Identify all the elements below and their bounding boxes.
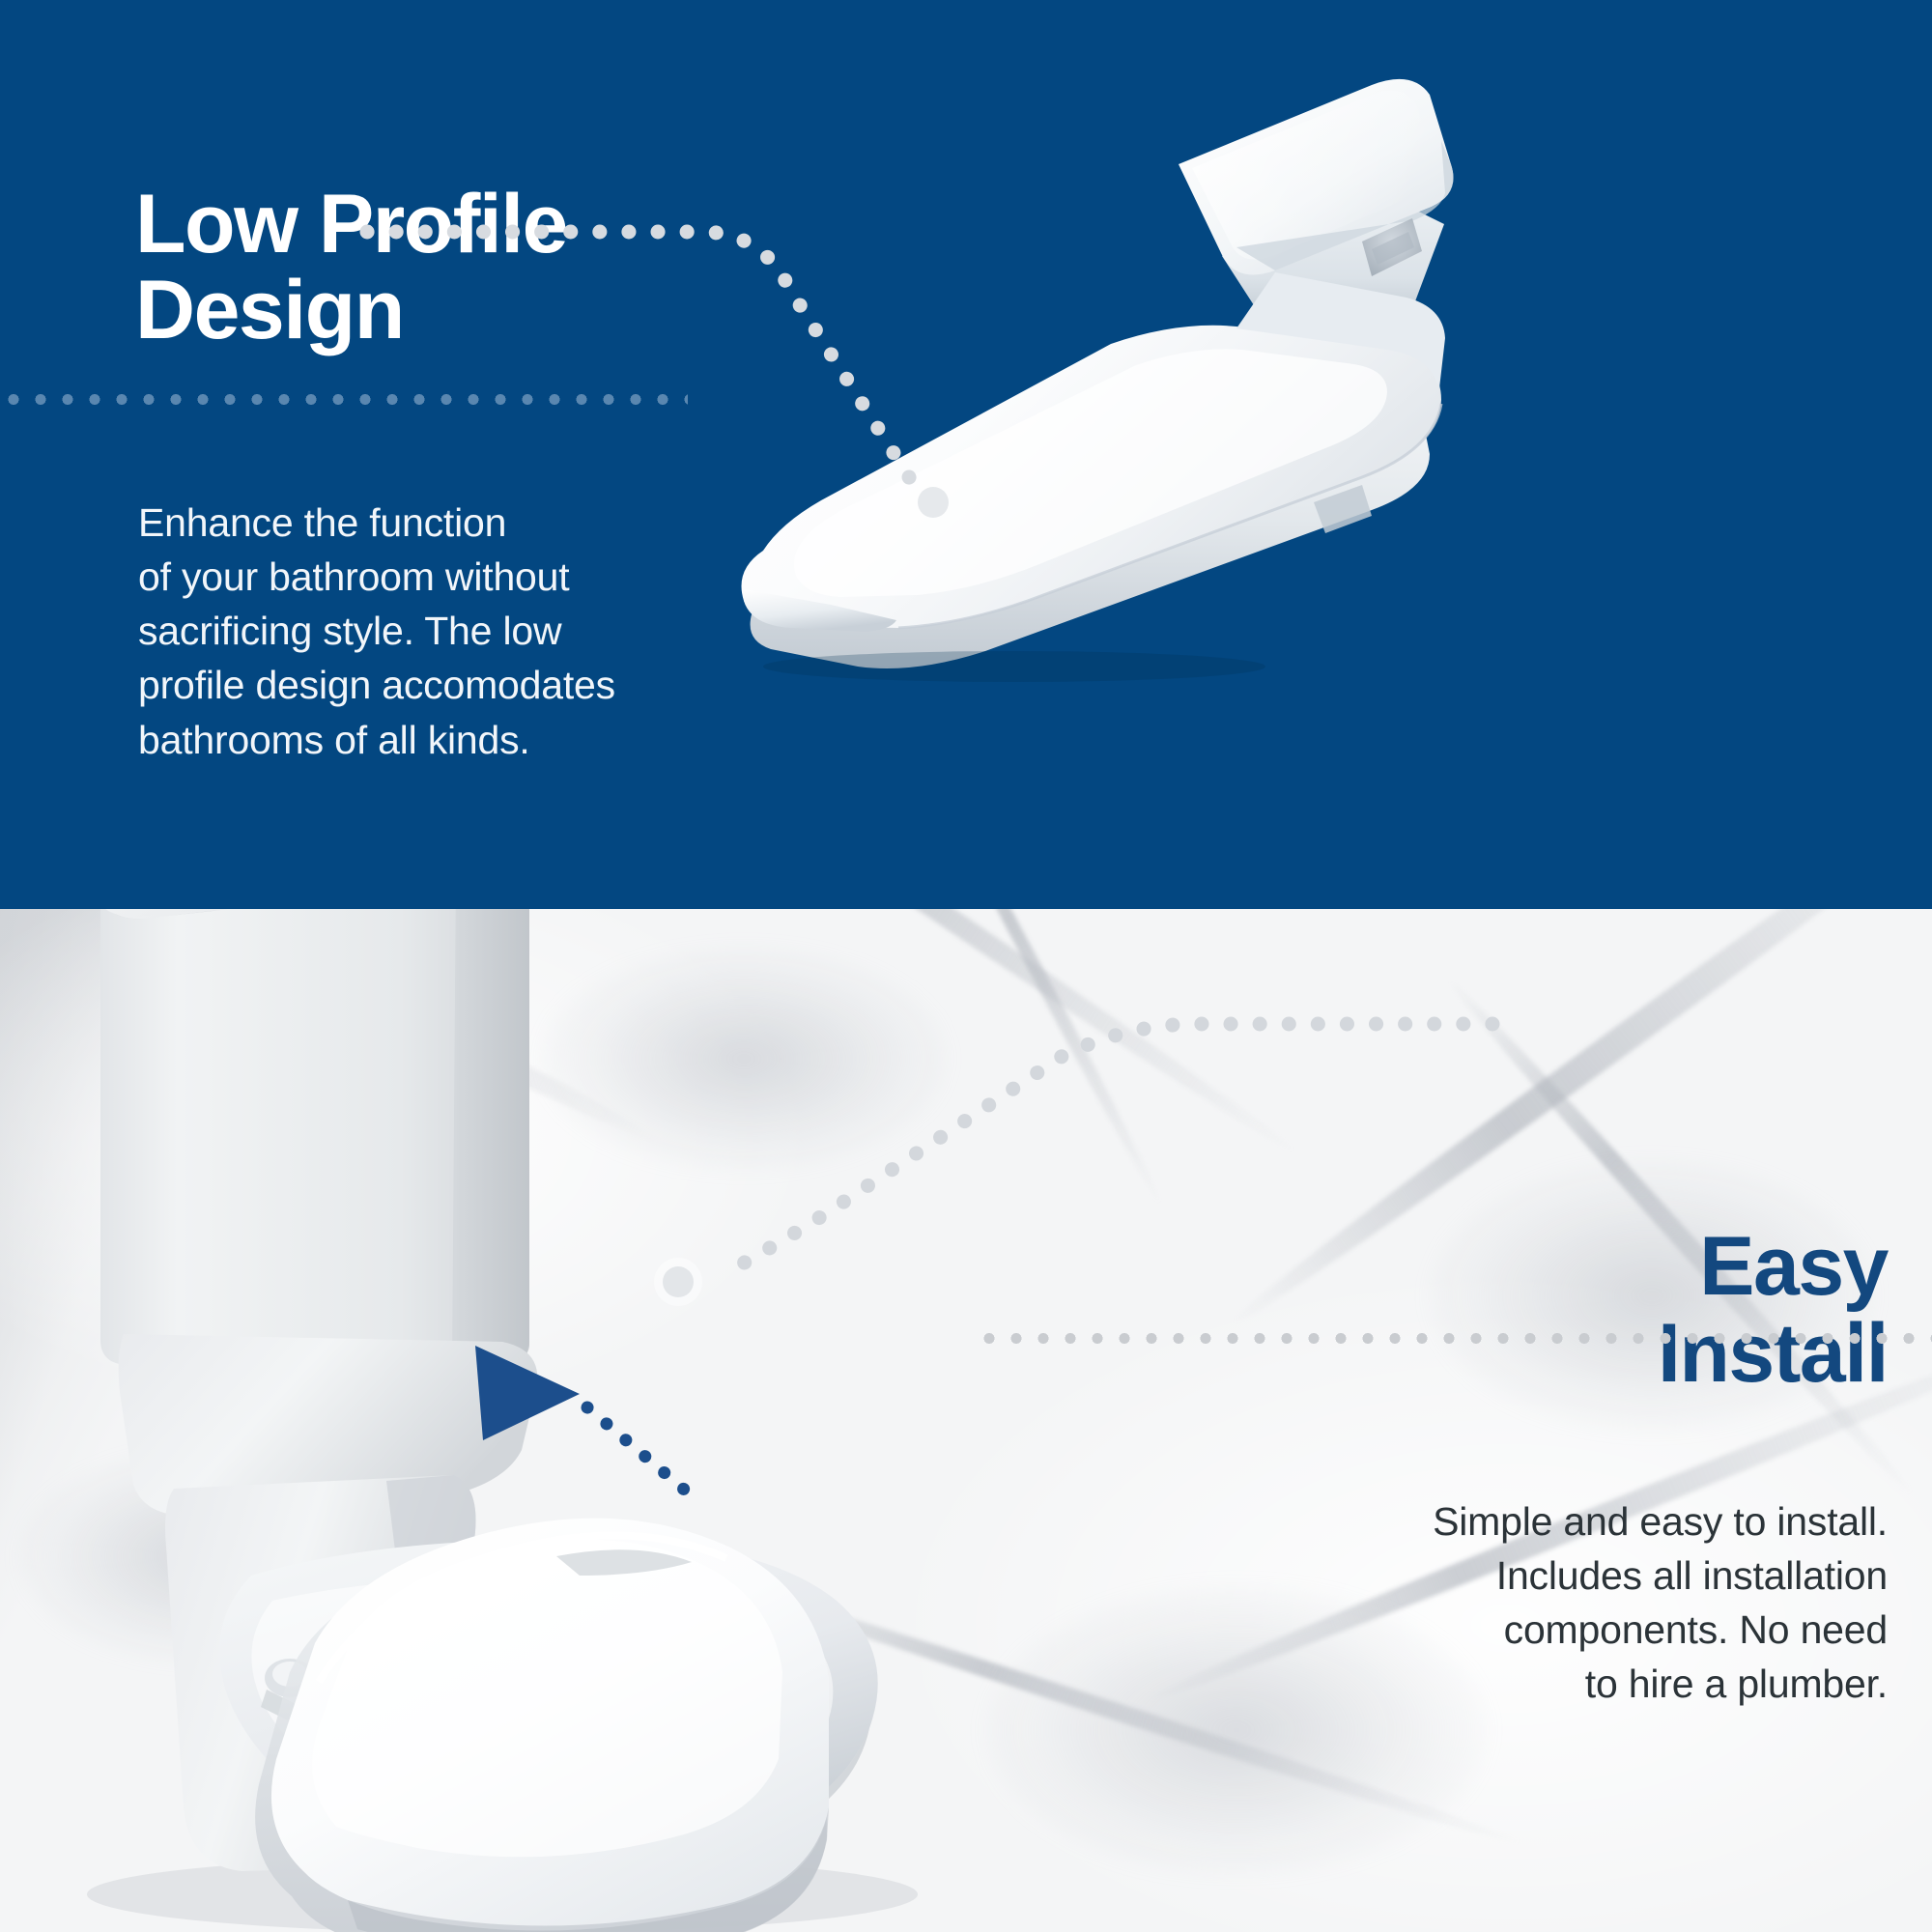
bidet-seat-slab bbox=[742, 326, 1442, 668]
infographic-page: Low Profile Design Enhance the function … bbox=[0, 0, 1932, 1932]
bottom-dotted-divider bbox=[976, 1333, 1932, 1344]
lid-open-motion-indicator bbox=[475, 1346, 701, 1504]
bottom-body-text: Simple and easy to install. Includes all… bbox=[1153, 1494, 1888, 1712]
low-profile-bidet-seat-image bbox=[696, 48, 1932, 686]
toilet-with-bidet-seat-image bbox=[0, 909, 1256, 1932]
top-body-text: Enhance the function of your bathroom wi… bbox=[138, 496, 679, 767]
top-feature-panel: Low Profile Design Enhance the function … bbox=[0, 0, 1932, 909]
product-shadow bbox=[763, 651, 1265, 682]
toilet-tank bbox=[93, 909, 541, 1365]
bottom-heading: Easy Install bbox=[1153, 1224, 1888, 1397]
top-heading: Low Profile Design bbox=[135, 182, 753, 355]
top-dotted-divider bbox=[0, 394, 688, 405]
